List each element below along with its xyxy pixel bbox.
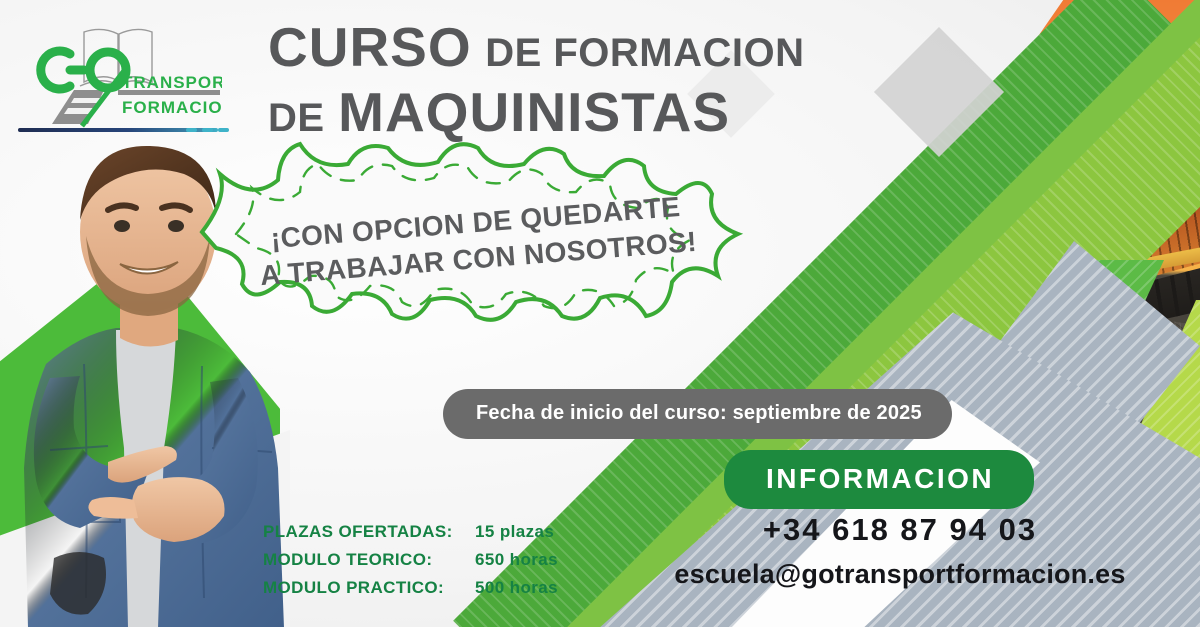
detail-row: PLAZAS OFERTADAS: 15 plazas	[263, 522, 558, 542]
starburst-callout: ¡CON OPCION DE QUEDARTE A TRABAJAR CON N…	[172, 136, 782, 346]
logo[interactable]: TRANSPORT FORMACION	[22, 24, 222, 134]
wagon-undercarriage	[853, 256, 1200, 388]
freight-wagons	[848, 143, 1200, 354]
contact-block: +34 618 87 94 03 escuela@gotransportform…	[620, 512, 1180, 590]
headline-lead-2: DE	[268, 96, 325, 140]
headline-strong-1: CURSO	[268, 16, 472, 78]
page-title: CURSO DE FORMACION DE MAQUINISTAS	[268, 20, 868, 140]
promo-banner: TRANSPORT FORMACION	[0, 0, 1200, 627]
course-start-date-badge: Fecha de inicio del curso: septiembre de…	[443, 389, 952, 439]
headline-rest-1: DE FORMACION	[485, 31, 804, 75]
gray-diamond-decoration	[874, 27, 1004, 157]
detail-label: PLAZAS OFERTADAS:	[263, 522, 475, 542]
phone-number[interactable]: +34 618 87 94 03	[620, 512, 1180, 548]
logo-transport-text: TRANSPORT	[122, 73, 222, 92]
detail-row: MODULO PRACTICO: 500 horas	[263, 578, 558, 598]
wagon-sill	[856, 237, 1200, 324]
sunset-sky	[840, 0, 1200, 520]
course-details-list: PLAZAS OFERTADAS: 15 plazas MODULO TEORI…	[263, 522, 558, 606]
logo-formacion-text: FORMACION	[122, 98, 222, 117]
detail-label: MODULO TEORICO:	[263, 550, 475, 570]
email-address[interactable]: escuela@gotransportformacion.es	[620, 559, 1180, 590]
detail-label: MODULO PRACTICO:	[263, 578, 475, 598]
detail-row: MODULO TEORICO: 650 horas	[263, 550, 558, 570]
detail-value: 15 plazas	[475, 522, 554, 542]
informacion-button[interactable]: INFORMACION	[724, 450, 1034, 509]
detail-value: 500 horas	[475, 578, 558, 598]
train-photo	[840, 0, 1200, 520]
detail-value: 650 horas	[475, 550, 558, 570]
pointing-finger	[88, 497, 138, 519]
